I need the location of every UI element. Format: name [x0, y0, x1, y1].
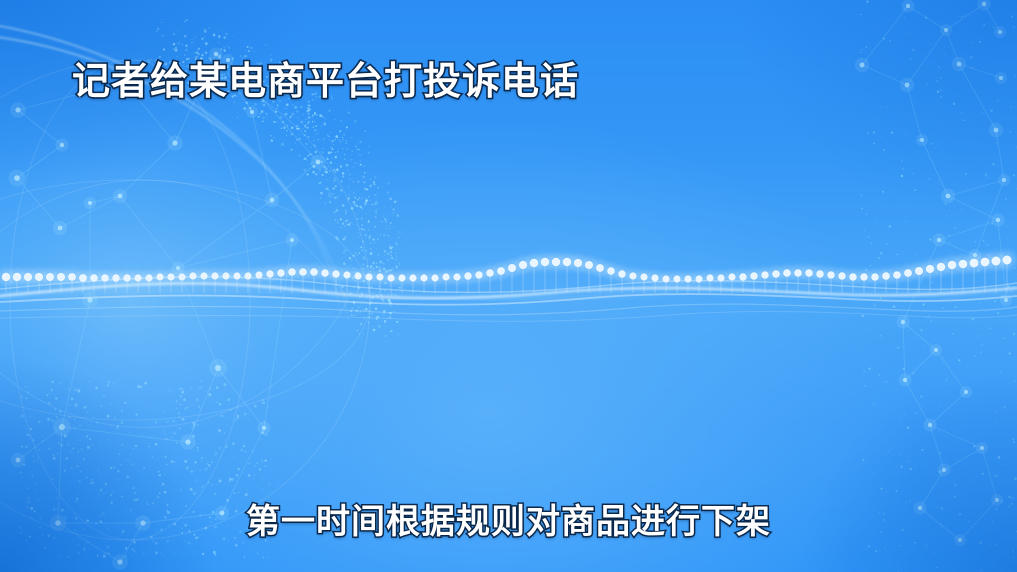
- video-frame: 记者给某电商平台打投诉电话 第一时间根据规则对商品进行下架: [0, 0, 1017, 572]
- page-title: 记者给某电商平台打投诉电话: [72, 50, 579, 105]
- subtitle-caption: 第一时间根据规则对商品进行下架: [0, 494, 1017, 543]
